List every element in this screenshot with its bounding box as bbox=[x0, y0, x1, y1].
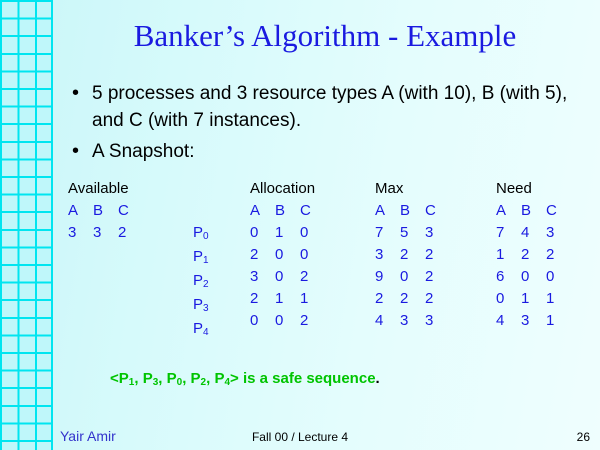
seq-index: 3 bbox=[153, 377, 159, 388]
resource-label-b: B bbox=[400, 200, 425, 222]
cell-value: 2 bbox=[425, 288, 450, 310]
cell-value: 3 bbox=[250, 266, 275, 288]
cell-value: 3 bbox=[68, 222, 93, 244]
cell-value: 3 bbox=[546, 222, 571, 244]
cell-value: 2 bbox=[425, 244, 450, 266]
seq-suffix: > is a safe sequence bbox=[230, 370, 376, 387]
column-header-max: Max bbox=[375, 178, 450, 200]
seq-item-2: P0 bbox=[167, 370, 183, 387]
table-row: 200 bbox=[250, 244, 325, 266]
table-row: 010 bbox=[250, 222, 325, 244]
table-column-process-labels: P0 P1 P2 P3 P4 bbox=[193, 222, 209, 342]
seq-period: . bbox=[376, 370, 380, 387]
bullet-list: • 5 processes and 3 resource types A (wi… bbox=[72, 80, 582, 169]
column-header-allocation: Allocation bbox=[250, 178, 325, 200]
cell-value: 0 bbox=[300, 244, 325, 266]
bullet-marker-icon: • bbox=[72, 80, 92, 107]
process-index: 3 bbox=[203, 303, 209, 314]
cell-value: 2 bbox=[425, 266, 450, 288]
table-row: 743 bbox=[496, 222, 571, 244]
grid-strip-edge bbox=[51, 0, 53, 450]
safe-sequence-text: <P1, P3, P0, P2, P4> is a safe sequence. bbox=[110, 370, 380, 387]
seq-index: 4 bbox=[224, 377, 230, 388]
cell-value: 0 bbox=[496, 288, 521, 310]
cell-value: 2 bbox=[118, 222, 143, 244]
cell-value: 0 bbox=[275, 310, 300, 332]
cell-value: 2 bbox=[546, 244, 571, 266]
resource-header-need: ABC bbox=[496, 200, 571, 222]
table-row: 122 bbox=[496, 244, 571, 266]
cell-value: 3 bbox=[521, 310, 546, 332]
cell-value: 9 bbox=[375, 266, 400, 288]
cell-value: 5 bbox=[400, 222, 425, 244]
resource-label-c: C bbox=[546, 200, 571, 222]
resource-header-available: ABC bbox=[68, 200, 143, 222]
cell-value: 2 bbox=[375, 288, 400, 310]
snapshot-table: Available ABC 332 P0 P1 P2 P3 P4 Allocat… bbox=[68, 178, 588, 343]
process-index: 4 bbox=[203, 327, 209, 338]
resource-label-c: C bbox=[118, 200, 143, 222]
seq-index: 1 bbox=[129, 377, 135, 388]
resource-label-b: B bbox=[93, 200, 118, 222]
cell-value: 0 bbox=[546, 266, 571, 288]
bullet-text-1: A Snapshot: bbox=[92, 138, 582, 165]
table-row: 753 bbox=[375, 222, 450, 244]
process-label-p2: P2 bbox=[193, 270, 209, 294]
table-column-allocation: Allocation ABC 010 200 302 211 002 bbox=[250, 178, 325, 332]
resource-label-b: B bbox=[275, 200, 300, 222]
cell-value: 0 bbox=[521, 266, 546, 288]
cell-value: 2 bbox=[400, 244, 425, 266]
footer-page-number: 26 bbox=[560, 430, 590, 444]
cell-value: 2 bbox=[521, 244, 546, 266]
table-row: 322 bbox=[375, 244, 450, 266]
table-row: 011 bbox=[496, 288, 571, 310]
cell-value: 0 bbox=[400, 266, 425, 288]
resource-label-a: A bbox=[250, 200, 275, 222]
process-letter: P bbox=[193, 320, 203, 337]
seq-letter: P bbox=[214, 370, 224, 387]
resource-label-a: A bbox=[496, 200, 521, 222]
cell-value: 3 bbox=[400, 310, 425, 332]
table-column-max: Max ABC 753 322 902 222 433 bbox=[375, 178, 450, 332]
seq-item-1: P3 bbox=[143, 370, 159, 387]
cell-value: 3 bbox=[93, 222, 118, 244]
seq-item-3: P2 bbox=[191, 370, 207, 387]
seq-letter: P bbox=[119, 370, 129, 387]
cell-value: 1 bbox=[300, 288, 325, 310]
cell-value: 0 bbox=[275, 266, 300, 288]
table-row: 332 bbox=[68, 222, 143, 244]
seq-item-4: P4 bbox=[214, 370, 230, 387]
resource-label-c: C bbox=[300, 200, 325, 222]
cell-value: 1 bbox=[521, 288, 546, 310]
column-header-need: Need bbox=[496, 178, 571, 200]
process-letter: P bbox=[193, 248, 203, 265]
resource-label-a: A bbox=[68, 200, 93, 222]
process-label-p4: P4 bbox=[193, 318, 209, 342]
process-label-p1: P1 bbox=[193, 246, 209, 270]
table-column-need: Need ABC 743 122 600 011 431 bbox=[496, 178, 571, 332]
table-row: 211 bbox=[250, 288, 325, 310]
bullet-item-0: • 5 processes and 3 resource types A (wi… bbox=[72, 80, 582, 134]
cell-value: 2 bbox=[250, 288, 275, 310]
table-row: 002 bbox=[250, 310, 325, 332]
table-row: 302 bbox=[250, 266, 325, 288]
process-label-p0: P0 bbox=[193, 222, 209, 246]
process-index: 0 bbox=[203, 231, 209, 242]
table-row: 431 bbox=[496, 310, 571, 332]
cell-value: 3 bbox=[375, 244, 400, 266]
column-header-available: Available bbox=[68, 178, 143, 200]
cell-value: 0 bbox=[250, 310, 275, 332]
process-letter: P bbox=[193, 272, 203, 289]
cell-value: 2 bbox=[400, 288, 425, 310]
seq-index: 2 bbox=[201, 377, 207, 388]
cell-value: 7 bbox=[496, 222, 521, 244]
bullet-marker-icon: • bbox=[72, 138, 92, 165]
process-letter: P bbox=[193, 296, 203, 313]
slide-canvas: Banker’s Algorithm - Example • 5 process… bbox=[0, 0, 600, 450]
resource-label-b: B bbox=[521, 200, 546, 222]
table-row: 902 bbox=[375, 266, 450, 288]
cell-value: 1 bbox=[546, 310, 571, 332]
process-label-p3: P3 bbox=[193, 294, 209, 318]
page-title: Banker’s Algorithm - Example bbox=[60, 18, 590, 54]
cell-value: 7 bbox=[375, 222, 400, 244]
cell-value: 0 bbox=[275, 244, 300, 266]
seq-index: 0 bbox=[177, 377, 183, 388]
seq-letter: P bbox=[143, 370, 153, 387]
decorative-grid-strip bbox=[0, 0, 53, 450]
footer-lecture-info: Fall 00 / Lecture 4 bbox=[0, 430, 600, 444]
cell-value: 4 bbox=[496, 310, 521, 332]
resource-header-allocation: ABC bbox=[250, 200, 325, 222]
bullet-text-0: 5 processes and 3 resource types A (with… bbox=[92, 80, 582, 134]
table-row: 222 bbox=[375, 288, 450, 310]
process-index: 2 bbox=[203, 279, 209, 290]
cell-value: 6 bbox=[496, 266, 521, 288]
cell-value: 0 bbox=[250, 222, 275, 244]
table-column-available: Available ABC 332 bbox=[68, 178, 143, 244]
seq-open-bracket: < bbox=[110, 370, 119, 387]
cell-value: 0 bbox=[300, 222, 325, 244]
cell-value: 2 bbox=[300, 310, 325, 332]
process-letter: P bbox=[193, 224, 203, 241]
cell-value: 1 bbox=[496, 244, 521, 266]
table-row: 600 bbox=[496, 266, 571, 288]
cell-value: 2 bbox=[300, 266, 325, 288]
cell-value: 3 bbox=[425, 222, 450, 244]
resource-header-max: ABC bbox=[375, 200, 450, 222]
cell-value: 1 bbox=[275, 222, 300, 244]
seq-letter: P bbox=[191, 370, 201, 387]
seq-letter: P bbox=[167, 370, 177, 387]
resource-label-a: A bbox=[375, 200, 400, 222]
cell-value: 3 bbox=[425, 310, 450, 332]
cell-value: 1 bbox=[275, 288, 300, 310]
bullet-item-1: • A Snapshot: bbox=[72, 138, 582, 165]
resource-label-c: C bbox=[425, 200, 450, 222]
cell-value: 4 bbox=[375, 310, 400, 332]
process-index: 1 bbox=[203, 255, 209, 266]
cell-value: 2 bbox=[250, 244, 275, 266]
seq-item-0: P1 bbox=[119, 370, 135, 387]
cell-value: 4 bbox=[521, 222, 546, 244]
cell-value: 1 bbox=[546, 288, 571, 310]
table-row: 433 bbox=[375, 310, 450, 332]
